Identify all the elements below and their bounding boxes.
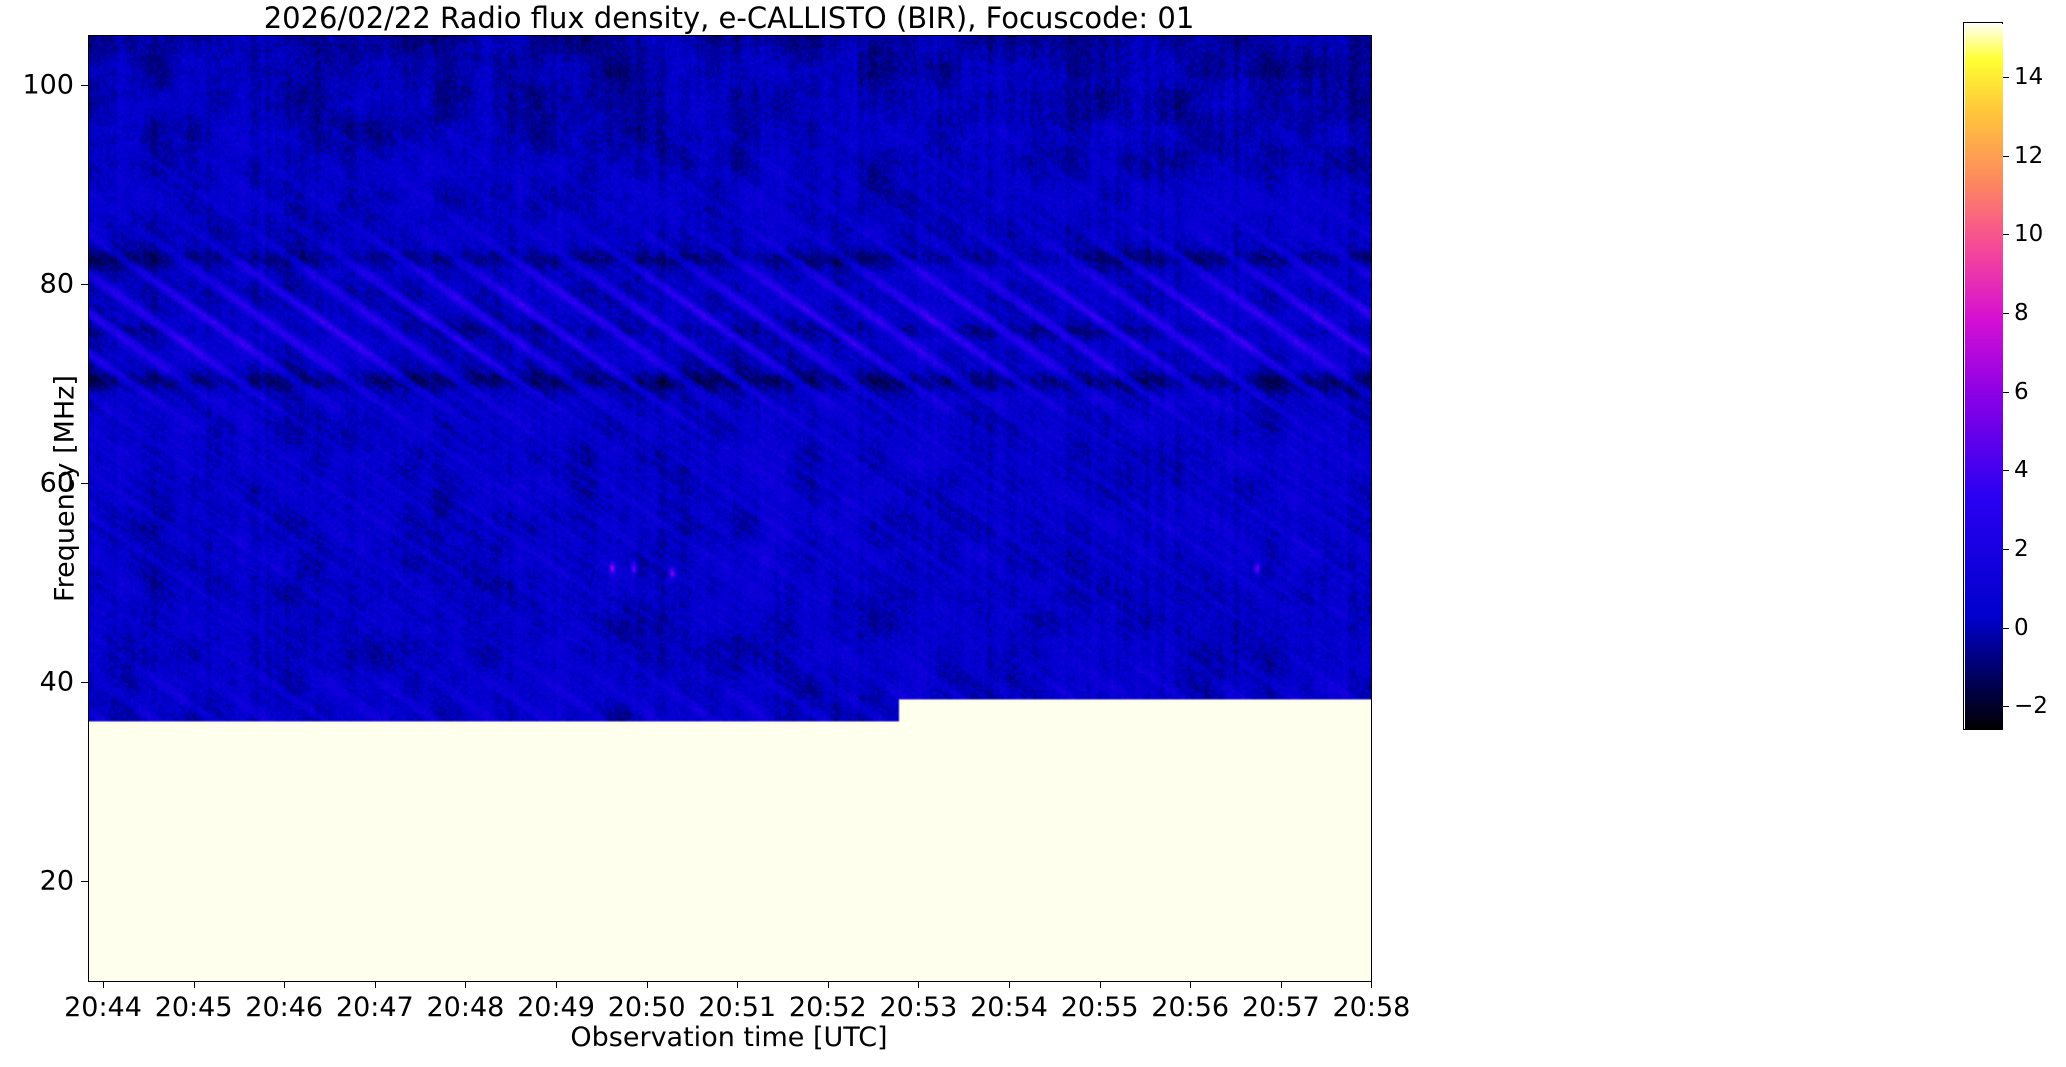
colorbar-tick-mark bbox=[2003, 470, 2009, 471]
x-tick-mark bbox=[828, 981, 829, 988]
x-tick-mark bbox=[284, 981, 285, 988]
x-tick-label: 20:53 bbox=[879, 992, 957, 1023]
y-tick-label: 40 bbox=[0, 666, 74, 697]
x-tick-label: 20:54 bbox=[970, 992, 1048, 1023]
x-tick-mark bbox=[647, 981, 648, 988]
spectrogram-plot-area[interactable] bbox=[88, 35, 1372, 982]
x-tick-mark bbox=[556, 981, 557, 988]
colorbar[interactable] bbox=[1963, 22, 2003, 730]
y-tick-label: 80 bbox=[0, 268, 74, 299]
colorbar-tick-mark bbox=[2003, 628, 2009, 629]
x-tick-label: 20:47 bbox=[336, 992, 414, 1023]
x-tick-label: 20:56 bbox=[1151, 992, 1229, 1023]
colorbar-tick-label: 4 bbox=[2014, 457, 2029, 483]
x-tick-label: 20:44 bbox=[64, 992, 142, 1023]
x-tick-label: 20:52 bbox=[789, 992, 867, 1023]
x-tick-mark bbox=[465, 981, 466, 988]
colorbar-tick-label: 8 bbox=[2014, 300, 2029, 326]
y-tick-label: 60 bbox=[0, 467, 74, 498]
colorbar-tick-mark bbox=[2003, 234, 2009, 235]
colorbar-tick-mark bbox=[2003, 392, 2009, 393]
y-tick-mark bbox=[81, 682, 88, 683]
figure-title: 2026/02/22 Radio flux density, e-CALLIST… bbox=[88, 2, 1370, 34]
x-tick-mark bbox=[194, 981, 195, 988]
x-tick-mark bbox=[1009, 981, 1010, 988]
x-tick-label: 20:49 bbox=[517, 992, 595, 1023]
spectrogram-image bbox=[89, 36, 1371, 981]
spectrogram-figure: 2026/02/22 Radio flux density, e-CALLIST… bbox=[0, 0, 2066, 1067]
colorbar-tick-label: 10 bbox=[2014, 221, 2043, 247]
colorbar-tick-label: 6 bbox=[2014, 379, 2029, 405]
x-tick-label: 20:57 bbox=[1242, 992, 1320, 1023]
colorbar-tick-label: 12 bbox=[2014, 143, 2043, 169]
x-tick-label: 20:51 bbox=[698, 992, 776, 1023]
x-tick-mark bbox=[375, 981, 376, 988]
x-tick-mark bbox=[1100, 981, 1101, 988]
colorbar-image bbox=[1965, 24, 2003, 730]
x-tick-label: 20:55 bbox=[1061, 992, 1139, 1023]
colorbar-tick-label: −2 bbox=[2014, 693, 2048, 719]
colorbar-gradient bbox=[1963, 22, 2003, 730]
x-tick-label: 20:46 bbox=[245, 992, 323, 1023]
colorbar-tick-mark bbox=[2003, 156, 2009, 157]
x-tick-mark bbox=[1281, 981, 1282, 988]
colorbar-tick-mark bbox=[2003, 313, 2009, 314]
colorbar-tick-mark bbox=[2003, 706, 2009, 707]
y-tick-label: 100 bbox=[0, 69, 74, 100]
y-tick-label: 20 bbox=[0, 865, 74, 896]
colorbar-tick-mark bbox=[2003, 549, 2009, 550]
colorbar-tick-label: 2 bbox=[2014, 536, 2029, 562]
x-axis-label: Observation time [UTC] bbox=[88, 1022, 1370, 1053]
y-tick-mark bbox=[81, 483, 88, 484]
y-tick-mark bbox=[81, 284, 88, 285]
x-tick-label: 20:58 bbox=[1332, 992, 1410, 1023]
colorbar-tick-mark bbox=[2003, 77, 2009, 78]
y-tick-mark bbox=[81, 881, 88, 882]
x-tick-mark bbox=[1371, 981, 1372, 988]
x-tick-label: 20:48 bbox=[426, 992, 504, 1023]
x-tick-label: 20:45 bbox=[155, 992, 233, 1023]
colorbar-tick-label: 14 bbox=[2014, 64, 2043, 90]
x-tick-mark bbox=[103, 981, 104, 988]
x-tick-mark bbox=[1190, 981, 1191, 988]
x-tick-mark bbox=[918, 981, 919, 988]
y-tick-mark bbox=[81, 85, 88, 86]
x-tick-label: 20:50 bbox=[608, 992, 686, 1023]
x-tick-mark bbox=[737, 981, 738, 988]
colorbar-tick-label: 0 bbox=[2014, 615, 2029, 641]
